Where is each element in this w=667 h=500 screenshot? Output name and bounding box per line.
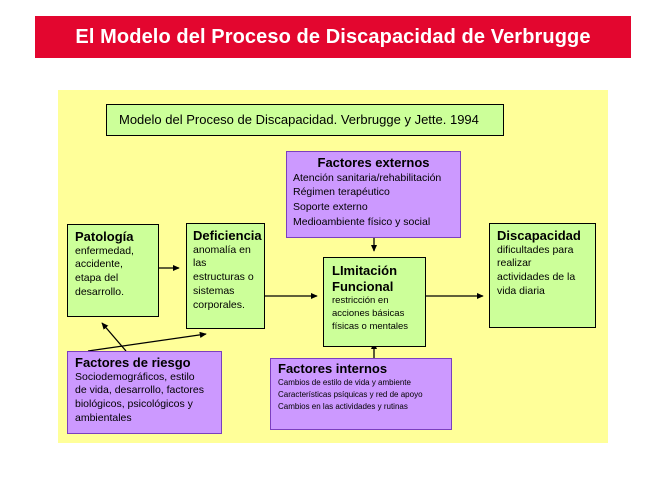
node-factores-externos-heading: Factores externos xyxy=(293,156,454,171)
node-factores-riesgo[interactable]: Factores de riesgo Sociodemográficos, es… xyxy=(67,351,222,434)
node-deficiencia-line-2: las xyxy=(193,257,258,271)
node-factores-riesgo-heading: Factores de riesgo xyxy=(75,356,214,371)
node-factores-internos-body: Cambios de estilo de vida y ambiente Car… xyxy=(278,377,444,413)
node-factores-externos[interactable]: Factores externos Atención sanitaria/reh… xyxy=(286,151,461,238)
node-patologia-line-4: desarrollo. xyxy=(75,286,151,300)
node-factores-internos-line-3: Cambios en las actividades y rutinas xyxy=(278,401,444,413)
node-discapacidad-line-2: realizar xyxy=(497,257,588,271)
node-factores-externos-line-4: Medioambiente físico y social xyxy=(293,215,454,230)
arrow-factores-riesgo-to-patologia xyxy=(102,323,126,351)
node-factores-riesgo-line-1: Sociodemográficos, estilo xyxy=(75,371,214,385)
node-discapacidad-line-4: vida diaria xyxy=(497,285,588,299)
node-deficiencia-body: anomalía en las estructuras o sistemas c… xyxy=(193,244,258,313)
node-limitacion-funcional-line-2: acciones básicas xyxy=(332,307,419,320)
node-limitacion-funcional-heading: LImitación Funcional xyxy=(332,263,419,294)
node-limitacion-funcional-line-1: restricción en xyxy=(332,294,419,307)
node-factores-externos-line-3: Soporte externo xyxy=(293,200,454,215)
node-discapacidad-body: dificultades para realizar actividades d… xyxy=(497,244,588,299)
node-limitacion-funcional-heading-line-2: Funcional xyxy=(332,279,393,294)
diagram-subtitle-box: Modelo del Proceso de Discapacidad. Verb… xyxy=(106,104,504,136)
node-factores-riesgo-line-3: biológicos, psicológicos y xyxy=(75,398,214,412)
node-patologia[interactable]: Patología enfermedad, accidente, etapa d… xyxy=(67,224,159,317)
node-deficiencia-line-3: estructuras o xyxy=(193,271,258,285)
node-factores-internos-heading: Factores internos xyxy=(278,362,444,377)
node-limitacion-funcional-line-3: físicas o mentales xyxy=(332,320,419,333)
node-factores-riesgo-line-4: ambientales xyxy=(75,412,214,426)
node-patologia-body: enfermedad, accidente, etapa del desarro… xyxy=(75,245,151,300)
node-deficiencia-line-1: anomalía en xyxy=(193,244,258,258)
node-factores-internos[interactable]: Factores internos Cambios de estilo de v… xyxy=(270,358,452,430)
page-title: El Modelo del Proceso de Discapacidad de… xyxy=(75,26,590,49)
node-factores-externos-line-1: Atención sanitaria/rehabilitación xyxy=(293,171,454,186)
node-limitacion-funcional-heading-line-1: LImitación xyxy=(332,263,397,278)
node-discapacidad[interactable]: Discapacidad dificultades para realizar … xyxy=(489,223,596,328)
node-discapacidad-heading: Discapacidad xyxy=(497,229,588,244)
node-deficiencia[interactable]: Deficiencia anomalía en las estructuras … xyxy=(186,223,265,329)
node-deficiencia-heading: Deficiencia xyxy=(193,229,258,244)
node-patologia-line-1: enfermedad, xyxy=(75,245,151,259)
arrow-factores-riesgo-to-deficiencia xyxy=(88,334,206,351)
node-patologia-line-3: etapa del xyxy=(75,272,151,286)
node-factores-externos-line-2: Régimen terapéutico xyxy=(293,185,454,200)
slide-screen: El Modelo del Proceso de Discapacidad de… xyxy=(0,0,667,500)
node-deficiencia-line-4: sistemas xyxy=(193,285,258,299)
node-factores-riesgo-line-2: de vida, desarrollo, factores xyxy=(75,384,214,398)
node-limitacion-funcional[interactable]: LImitación Funcional restricción en acci… xyxy=(323,257,426,347)
slide-title-banner: El Modelo del Proceso de Discapacidad de… xyxy=(35,16,631,58)
diagram-subtitle-text: Modelo del Proceso de Discapacidad. Verb… xyxy=(119,113,479,128)
node-factores-externos-body: Atención sanitaria/rehabilitación Régime… xyxy=(293,171,454,231)
node-factores-internos-line-1: Cambios de estilo de vida y ambiente xyxy=(278,377,444,389)
node-discapacidad-line-1: dificultades para xyxy=(497,244,588,258)
node-factores-internos-line-2: Características psíquicas y red de apoyo xyxy=(278,389,444,401)
diagram-canvas: Modelo del Proceso de Discapacidad. Verb… xyxy=(58,90,608,443)
node-patologia-heading: Patología xyxy=(75,230,151,245)
node-factores-riesgo-body: Sociodemográficos, estilo de vida, desar… xyxy=(75,371,214,426)
node-limitacion-funcional-body: restricción en acciones básicas físicas … xyxy=(332,294,419,333)
node-deficiencia-line-5: corporales. xyxy=(193,299,258,313)
node-discapacidad-line-3: actividades de la xyxy=(497,271,588,285)
node-patologia-line-2: accidente, xyxy=(75,258,151,272)
